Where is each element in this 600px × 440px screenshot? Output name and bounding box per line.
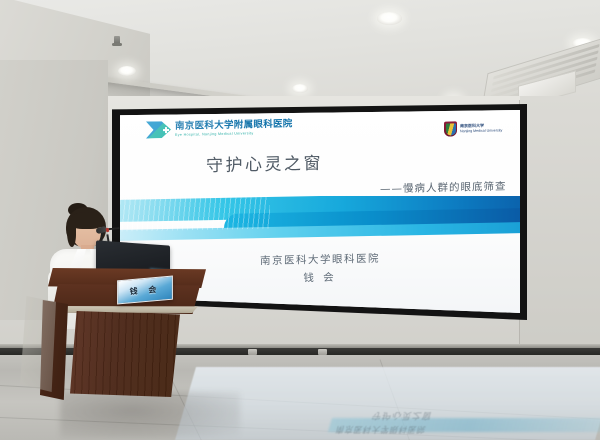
eye-hospital-logo-text: 南京医科大学附属眼科医院 Eye Hospital, Nanjing Medic… (175, 119, 293, 136)
eye-hospital-logo-mark (146, 121, 171, 139)
university-logo: 南京医科大学 Nanjing Medical University (444, 120, 502, 136)
hair-side (67, 220, 76, 247)
podium-trim-band (54, 306, 198, 313)
nameplate-text: 钱 会 (130, 283, 161, 297)
speaker-nameplate: 钱 会 (117, 276, 173, 305)
slide-subtitle: ——慢病人群的眼底筛查 (380, 179, 507, 197)
ceiling-downlight (118, 66, 136, 76)
conference-room-scene: 守护心灵之窗 南京医科大学眼科医院 南京医科大学附属眼科医院 Eye Hospi… (0, 0, 600, 440)
reflected-slide-organization: 南京医科大学眼科医院 (334, 424, 427, 435)
reflected-slide-title: 守护心灵之窗 (370, 410, 434, 423)
band-ray-texture (120, 196, 270, 231)
crest-inner (445, 123, 455, 135)
university-logo-text: 南京医科大学 Nanjing Medical University (460, 123, 502, 133)
microphone-indicator-ring (106, 228, 110, 233)
medical-cross-icon (163, 127, 169, 133)
slide-title: 守护心灵之窗 (206, 149, 323, 176)
ceiling-downlight (377, 12, 402, 25)
slide-gradient-band (120, 196, 520, 244)
university-crest-icon (444, 121, 457, 136)
university-name-en: Nanjing Medical University (460, 128, 502, 133)
sprinkler-head-icon (114, 36, 120, 45)
ceiling-downlight (292, 84, 308, 93)
right-wall-panel (520, 96, 600, 358)
podium-column (70, 311, 180, 397)
eye-hospital-logo: 南京医科大学附属眼科医院 Eye Hospital, Nanjing Medic… (146, 118, 293, 138)
podium-floor-shadow (60, 392, 240, 438)
wood-grain-texture (70, 311, 180, 397)
